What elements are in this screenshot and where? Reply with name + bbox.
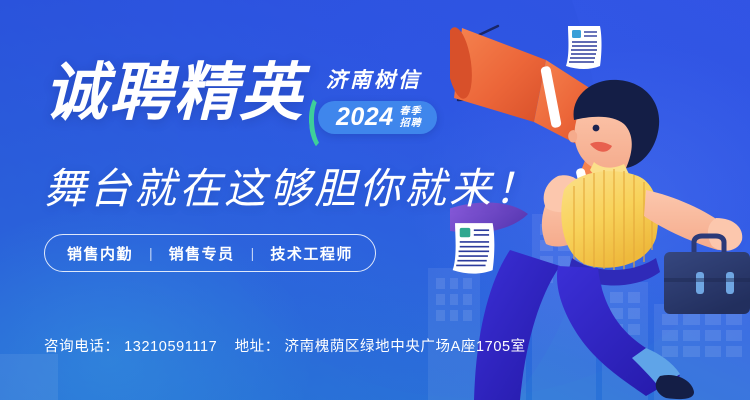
recruitment-banner: 诚聘精英 济南树信 2024 春季 招聘 舞台就在这够胆你就来！ 销售内勤 | … (0, 0, 750, 400)
year-badge: 2024 春季 招聘 (318, 101, 437, 134)
headline-row: 诚聘精英 济南树信 2024 春季 招聘 (44, 62, 437, 134)
company-block: 济南树信 2024 春季 招聘 (318, 62, 437, 134)
address-value: 济南槐荫区绿地中央广场A座1705室 (285, 339, 526, 355)
phone-label: 咨询电话： (44, 339, 120, 355)
role-item-2: 技术工程师 (270, 243, 353, 264)
address-label: 地址： (235, 339, 280, 355)
role-item-1: 销售专员 (169, 243, 235, 264)
page-title: 诚聘精英 (44, 62, 304, 125)
role-separator: | (251, 245, 255, 261)
season-label: 春季 招聘 (400, 106, 422, 128)
resume-document-icon (562, 22, 608, 74)
roles-pill: 销售内勤 | 销售专员 | 技术工程师 (44, 234, 376, 272)
company-name: 济南树信 (326, 64, 437, 94)
season-line-2: 招聘 (400, 118, 422, 129)
role-separator: | (149, 245, 153, 261)
eye (593, 125, 600, 132)
text-content: 诚聘精英 济南树信 2024 春季 招聘 舞台就在这够胆你就来！ 销售内勤 | … (0, 0, 560, 400)
phone-number: 13210591117 (124, 339, 217, 355)
contact-bar: 咨询电话： 13210591117 地址： 济南槐荫区绿地中央广场A座1705室 (44, 335, 526, 356)
briefcase-icon (664, 236, 750, 314)
subtitle: 舞台就在这够胆你就来！ (44, 155, 539, 216)
role-item-0: 销售内勤 (67, 243, 133, 264)
shoe (656, 375, 694, 399)
year-label: 2024 (336, 105, 394, 130)
season-line-1: 春季 (400, 106, 422, 117)
